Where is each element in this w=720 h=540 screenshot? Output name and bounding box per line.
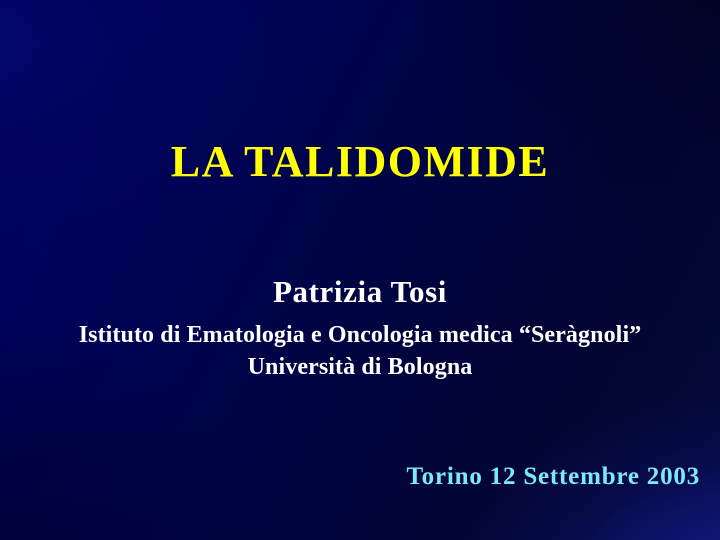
affiliation-institute: Istituto di Ematologia e Oncologia medic… [0, 319, 720, 351]
affiliation-university: Università di Bologna [0, 351, 720, 383]
slide-title: LA TALIDOMIDE [0, 139, 720, 185]
slide-content: LA TALIDOMIDE Patrizia Tosi Istituto di … [0, 0, 720, 540]
author-name: Patrizia Tosi [0, 275, 720, 309]
event-date: Torino 12 Settembre 2003 [0, 463, 700, 491]
author-affiliation: Istituto di Ematologia e Oncologia medic… [0, 319, 720, 383]
presentation-slide: LA TALIDOMIDE Patrizia Tosi Istituto di … [0, 0, 720, 540]
